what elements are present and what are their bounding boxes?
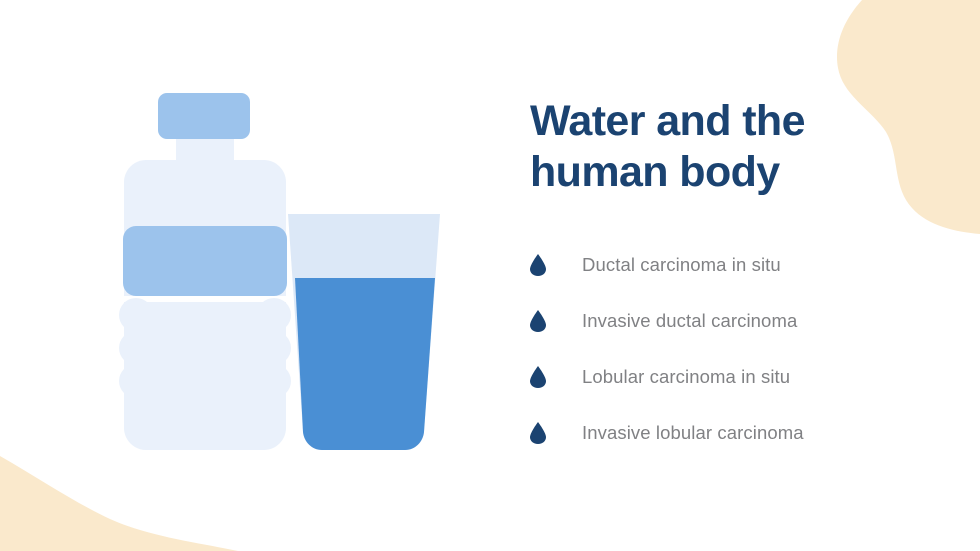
- water-drop-icon: [530, 366, 546, 388]
- list-item-label: Invasive lobular carcinoma: [582, 422, 804, 444]
- list-item[interactable]: Invasive ductal carcinoma: [530, 293, 930, 349]
- page-title: Water and the human body: [530, 96, 860, 197]
- list-item[interactable]: Invasive lobular carcinoma: [530, 405, 930, 461]
- water-drop-icon: [530, 310, 546, 332]
- water-drop-icon: [530, 422, 546, 444]
- text-content: Water and the human body Ductal carcinom…: [530, 96, 930, 461]
- list-item-label: Lobular carcinoma in situ: [582, 366, 790, 388]
- list-item-label: Invasive ductal carcinoma: [582, 310, 797, 332]
- list-item[interactable]: Ductal carcinoma in situ: [530, 237, 930, 293]
- water-drop-icon: [530, 254, 546, 276]
- drinking-glass-icon: [288, 214, 440, 450]
- list-item[interactable]: Lobular carcinoma in situ: [530, 349, 930, 405]
- water-bottle-icon: [119, 93, 291, 450]
- bullet-list: Ductal carcinoma in situ Invasive ductal…: [530, 237, 930, 461]
- list-item-label: Ductal carcinoma in situ: [582, 254, 781, 276]
- water-bottle-and-glass-illustration: [110, 80, 450, 460]
- slide-canvas: Water and the human body Ductal carcinom…: [0, 0, 980, 551]
